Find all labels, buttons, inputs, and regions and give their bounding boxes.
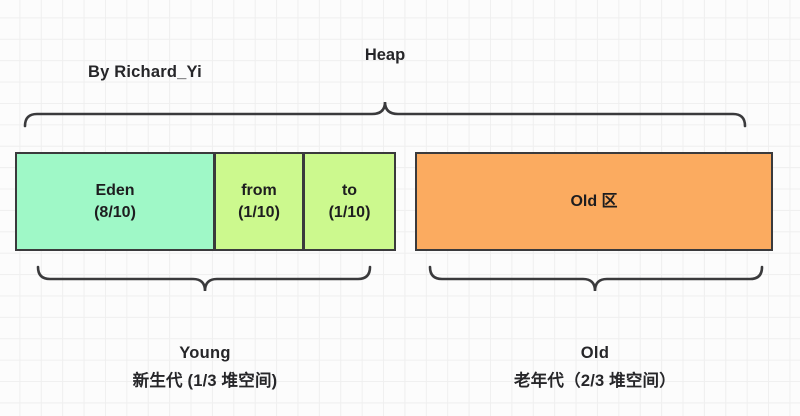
region-to-name: to <box>342 180 357 202</box>
heap-label: Heap <box>0 45 770 66</box>
group-old-cn: 老年代（2/3 堆空间） <box>445 367 745 391</box>
group-label-old: Old 老年代（2/3 堆空间） <box>445 344 745 391</box>
heap-brace <box>0 90 800 130</box>
group-label-young: Young 新生代 (1/3 堆空间) <box>55 344 355 391</box>
region-from-name: from <box>241 180 277 202</box>
diagram-canvas: By Richard_Yi Heap Eden (8/10) from (1/1… <box>0 0 800 416</box>
region-to[interactable]: to (1/10) <box>303 152 396 251</box>
old-brace <box>0 262 800 302</box>
region-eden-name: Eden <box>95 180 134 202</box>
group-young-en: Young <box>55 344 355 363</box>
group-young-cn: 新生代 (1/3 堆空间) <box>55 367 355 391</box>
region-from[interactable]: from (1/10) <box>214 152 304 251</box>
region-old-name: Old 区 <box>570 191 617 213</box>
region-to-fraction: (1/10) <box>329 202 371 224</box>
region-eden[interactable]: Eden (8/10) <box>15 152 215 251</box>
region-eden-fraction: (8/10) <box>94 202 136 224</box>
region-old[interactable]: Old 区 <box>415 152 773 251</box>
region-from-fraction: (1/10) <box>238 202 280 224</box>
group-old-en: Old <box>445 344 745 363</box>
